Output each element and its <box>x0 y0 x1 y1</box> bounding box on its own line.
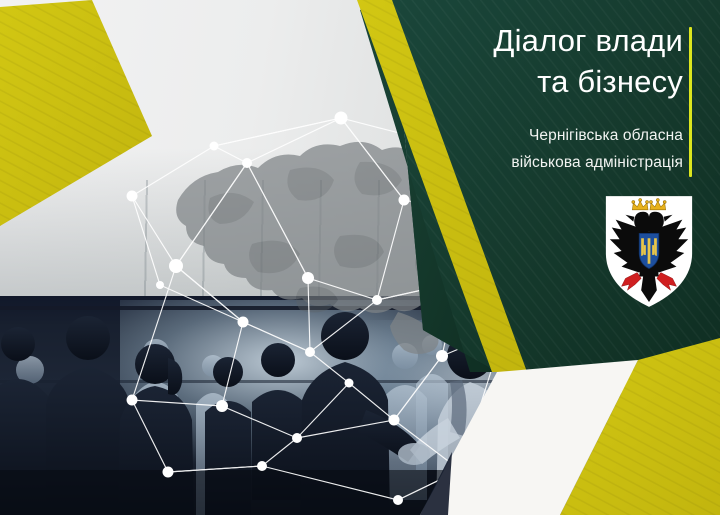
poster-root: Діалог влади та бізнесу Чернігівська обл… <box>0 0 720 515</box>
accent-bar <box>689 27 692 177</box>
shape-photo-sliver <box>420 452 452 515</box>
title-block: Діалог влади та бізнесу Чернігівська обл… <box>390 0 720 200</box>
coat-of-arms-icon <box>600 192 698 310</box>
page-title: Діалог влади та бізнесу <box>393 20 683 102</box>
organisation-subtitle: Чернігівська обласна військова адміністр… <box>393 122 683 176</box>
